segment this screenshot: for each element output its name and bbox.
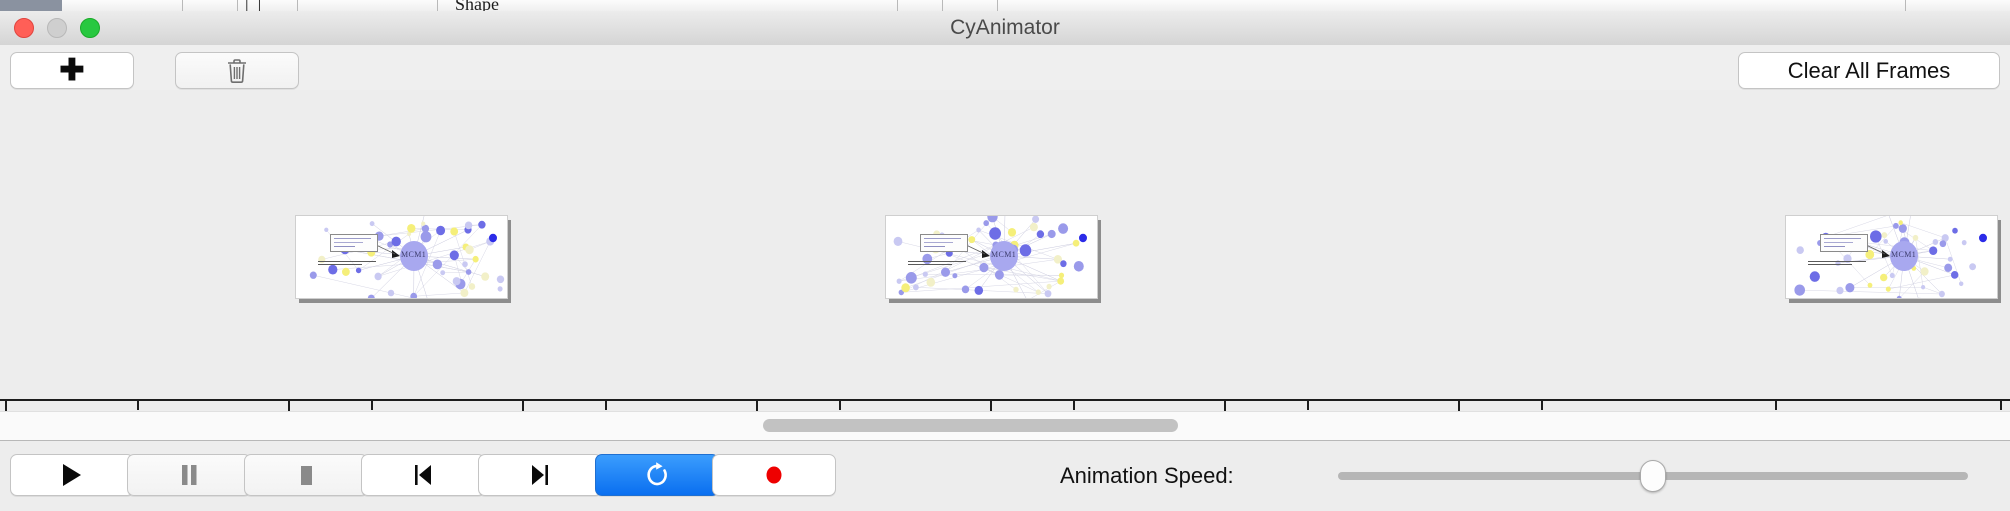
animation-speed-slider-thumb[interactable]: [1640, 460, 1666, 492]
window-title: CyAnimator: [0, 11, 2010, 45]
scrollbar-thumb[interactable]: [763, 419, 1178, 432]
pause-icon: [176, 461, 202, 489]
frame-thumbnail[interactable]: MCM1: [885, 215, 1101, 303]
frame-callout: [920, 234, 968, 252]
axis-major-tick: [1224, 401, 1226, 411]
axis-major-tick: [1458, 401, 1460, 411]
frame-hub-label: MCM1: [1891, 250, 1916, 259]
background-segment: [942, 0, 998, 11]
axis-major-tick: [522, 401, 524, 411]
axis-minor-tick: [1307, 401, 1309, 410]
frame-caption-line: [908, 261, 966, 262]
frame-hub-label: MCM1: [401, 250, 426, 259]
background-segment: [182, 0, 238, 11]
axis-minor-tick: [1073, 401, 1075, 410]
skip-to-end-button[interactable]: [478, 454, 602, 496]
frame-caption-line: [318, 261, 376, 262]
trash-icon: [226, 58, 248, 84]
background-segment: [897, 0, 943, 11]
frame-thumbnail[interactable]: MCM1: [1785, 215, 2001, 303]
background-window-strip: | | Shape: [0, 0, 2010, 11]
skip-forward-icon: [527, 461, 553, 489]
add-frame-button[interactable]: ✚: [10, 52, 134, 89]
axis-minor-tick: [1541, 401, 1543, 410]
animation-speed-label: Animation Speed:: [1060, 463, 1234, 489]
record-button[interactable]: [712, 454, 836, 496]
axis-minor-tick: [2000, 401, 2002, 410]
frame-caption-line: [908, 264, 952, 265]
record-icon: [761, 461, 787, 489]
background-segment: [437, 0, 898, 11]
play-icon: [59, 461, 85, 489]
frame-caption-line: [1808, 264, 1852, 265]
frame-caption-line: [318, 264, 362, 265]
axis-major-tick: [990, 401, 992, 411]
clear-all-frames-button[interactable]: Clear All Frames: [1738, 52, 2000, 89]
axis-minor-tick: [605, 401, 607, 410]
axis-major-tick: [756, 401, 758, 411]
delete-frame-button[interactable]: [175, 52, 299, 89]
loop-button[interactable]: [595, 454, 719, 496]
stop-icon: [293, 461, 319, 489]
stop-button[interactable]: [244, 454, 368, 496]
frame-image: MCM1: [295, 215, 508, 299]
frames-toolbar: ✚ Clear All Frames: [0, 45, 2010, 91]
axis-minor-tick: [1775, 401, 1777, 410]
background-selected-tab: [0, 0, 62, 11]
cyanimator-window: | | Shape CyAnimator ✚ Clear All Frames: [0, 0, 2010, 510]
skip-to-start-button[interactable]: [361, 454, 485, 496]
background-glyph-bar: | |: [245, 0, 261, 10]
play-button[interactable]: [10, 454, 134, 496]
frame-callout: [330, 234, 378, 252]
axis-major-tick: [5, 401, 7, 411]
timeline-panel[interactable]: MCM1MCM1MCM1 2131415161718 Seconds: [0, 90, 2010, 411]
pause-button[interactable]: [127, 454, 251, 496]
axis-minor-tick: [371, 401, 373, 410]
skip-back-icon: [410, 461, 436, 489]
playback-control-bar: Animation Speed:: [0, 440, 2010, 511]
clear-all-frames-label: Clear All Frames: [1788, 58, 1951, 84]
animation-speed-slider[interactable]: [1338, 472, 1968, 480]
axis-major-tick: [288, 401, 290, 411]
frame-callout: [1820, 234, 1868, 252]
loop-icon: [644, 461, 670, 489]
plus-icon: ✚: [59, 56, 84, 86]
frame-caption-line: [1808, 261, 1866, 262]
timeline-axis-line: [0, 399, 2010, 401]
frame-image: MCM1: [1785, 215, 1998, 299]
background-segment: [62, 0, 183, 11]
timeline-horizontal-scrollbar[interactable]: [0, 411, 2010, 441]
frame-image: MCM1: [885, 215, 1098, 299]
background-segment: [1810, 0, 1906, 11]
axis-minor-tick: [137, 401, 139, 410]
background-segment: [297, 0, 438, 11]
axis-minor-tick: [839, 401, 841, 410]
frame-thumbnail[interactable]: MCM1: [295, 215, 511, 303]
title-bar: CyAnimator: [0, 11, 2010, 46]
background-partial-label: Shape: [455, 0, 499, 10]
frame-hub-label: MCM1: [991, 250, 1016, 259]
